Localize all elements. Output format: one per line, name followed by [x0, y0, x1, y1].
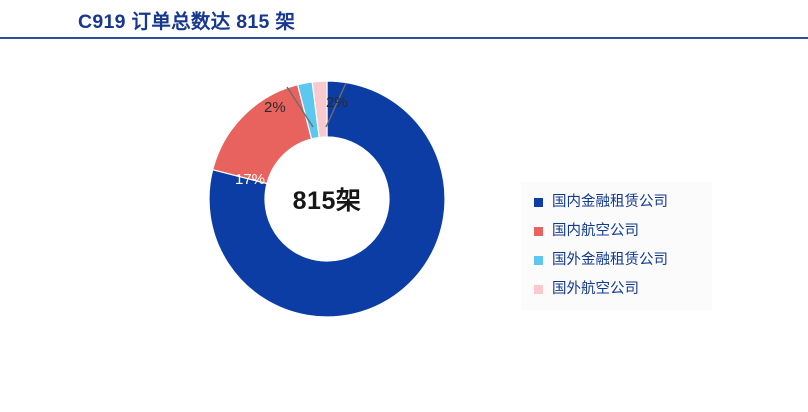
- slice-domestic-airline[interactable]: [213, 85, 312, 184]
- legend-item-overseas-airline[interactable]: 国外航空公司: [521, 275, 712, 304]
- slice-percent-label-overseas-leasing: 2%: [264, 99, 286, 116]
- legend-swatch-icon: [534, 227, 543, 236]
- donut-chart: 815架 79% 17% 2% 2% 国内金融租赁公司 国内航空公司 国外金融租…: [0, 41, 808, 412]
- slice-percent-label-overseas-airline: 2%: [326, 94, 348, 111]
- page-header: C919 订单总数达 815 架: [0, 0, 808, 41]
- legend-item-label: 国外航空公司: [552, 282, 639, 297]
- legend-item-label: 国内航空公司: [552, 224, 639, 239]
- legend-swatch-icon: [534, 285, 543, 294]
- legend-item-label: 国外金融租赁公司: [552, 253, 668, 268]
- slice-percent-label-domestic-airline: 17%: [235, 171, 265, 188]
- legend-item-domestic-leasing[interactable]: 国内金融租赁公司: [521, 188, 712, 217]
- chart-legend: 国内金融租赁公司 国内航空公司 国外金融租赁公司 国外航空公司: [521, 182, 712, 310]
- legend-item-domestic-airline[interactable]: 国内航空公司: [521, 217, 712, 246]
- legend-item-label: 国内金融租赁公司: [552, 195, 668, 210]
- page-title: C919 订单总数达 815 架: [78, 5, 295, 34]
- slice-group: [209, 81, 445, 317]
- slice-percent-label-domestic-leasing: 79%: [357, 313, 387, 330]
- legend-swatch-icon: [534, 198, 543, 207]
- legend-item-overseas-leasing[interactable]: 国外金融租赁公司: [521, 246, 712, 275]
- title-divider: [0, 37, 808, 39]
- legend-swatch-icon: [534, 256, 543, 265]
